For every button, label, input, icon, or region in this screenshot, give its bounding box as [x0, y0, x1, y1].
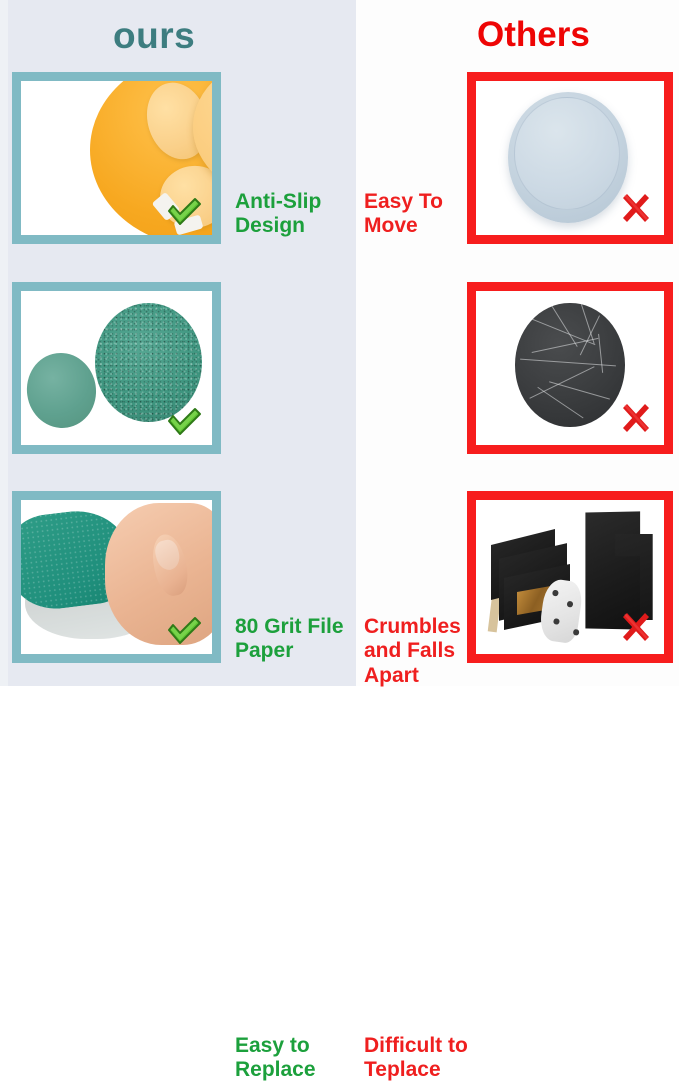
check-mark-icon [162, 401, 206, 441]
con-label-3: Difficult to Teplace [364, 1034, 472, 1083]
scratched-dark-disc-image [476, 291, 664, 445]
pro-label-3: Easy to Replace [235, 1034, 353, 1083]
cross-mark-icon [614, 401, 658, 441]
con-image-frame-2 [467, 282, 673, 454]
hand-peeling-sanding-disc-image [21, 500, 212, 654]
green-grit-sanding-discs-image [21, 291, 212, 445]
pale-blue-disc [508, 92, 628, 223]
comparison-row-2: 80 Grit File Paper Crumbles and Falls Ap… [0, 282, 679, 457]
pro-image-frame-2 [12, 282, 221, 454]
check-mark-icon [162, 610, 206, 650]
pro-label-1: Anti-Slip Design [235, 190, 353, 239]
con-image-frame-3 [467, 491, 673, 663]
ours-title: ours [113, 17, 195, 54]
con-label-1: Easy To Move [364, 190, 472, 239]
comparison-row-3: Easy to Replace Difficult to Teplace [0, 491, 679, 666]
cross-mark-icon [614, 610, 658, 650]
others-title: Others [477, 17, 590, 52]
orange-anti-slip-disc-image [21, 81, 212, 235]
small-smooth-disc [22, 348, 101, 432]
pro-image-frame-1 [12, 72, 221, 244]
con-image-frame-1 [467, 72, 673, 244]
pale-blue-plain-disc-image [476, 81, 664, 235]
check-mark-icon [162, 191, 206, 231]
comparison-row-1: Anti-Slip Design Easy To Move [0, 72, 679, 247]
pro-image-frame-3 [12, 491, 221, 663]
comparison-infographic: ours Others [0, 0, 679, 686]
dark-scratched-disc [515, 303, 624, 426]
black-sandpaper-sheets-image [476, 500, 664, 654]
cross-mark-icon [614, 191, 658, 231]
